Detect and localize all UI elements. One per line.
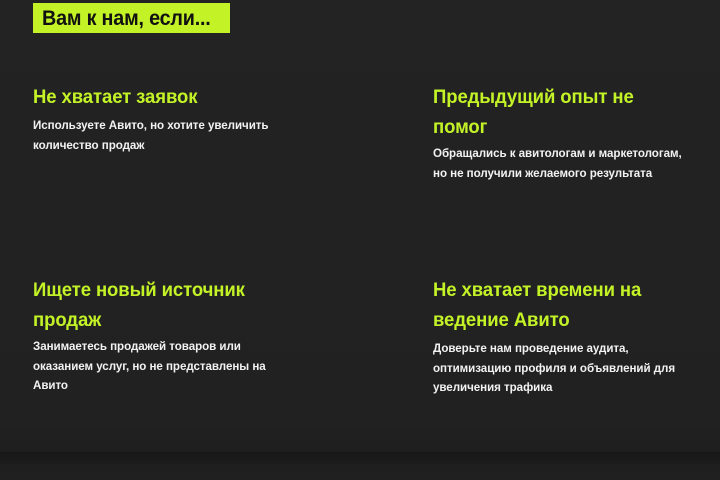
benefit-item-4: Не хватает времени на ведение Авито Дове…	[433, 275, 698, 398]
benefit-item-2: Предыдущий опыт не помог Обращались к ав…	[433, 82, 698, 275]
bottom-shadow-band	[0, 452, 720, 464]
benefit-item-3-description: Занимаетесь продажей товаров или оказани…	[33, 337, 299, 396]
benefit-item-1-title: Не хватает заявок	[33, 82, 299, 112]
benefit-item-4-description: Доверьте нам проведение аудита, оптимиза…	[433, 339, 685, 398]
benefit-item-3: Ищете новый источник продаж Занимаетесь …	[33, 275, 313, 398]
slide-root: Вам к нам, если... Не хватает заявок Исп…	[0, 0, 720, 480]
benefit-item-1-description: Используете Авито, но хотите увеличить к…	[33, 116, 299, 155]
benefit-item-2-description: Обращались к авитологам и маркетологам, …	[433, 144, 685, 183]
slide-title-badge: Вам к нам, если...	[33, 3, 230, 33]
benefit-item-4-title: Не хватает времени на ведение Авито	[433, 275, 685, 335]
benefit-item-1: Не хватает заявок Используете Авито, но …	[33, 82, 313, 275]
benefits-grid: Не хватает заявок Используете Авито, но …	[33, 82, 695, 398]
slide-title-text: Вам к нам, если...	[42, 8, 211, 29]
benefit-item-3-title: Ищете новый источник продаж	[33, 275, 299, 335]
benefit-item-2-title: Предыдущий опыт не помог	[433, 82, 685, 142]
